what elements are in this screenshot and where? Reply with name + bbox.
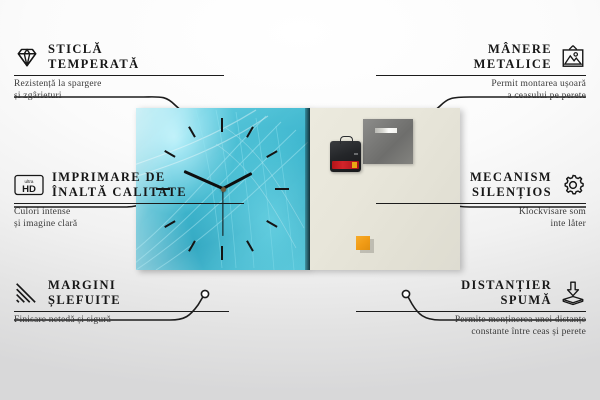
callout-title-line1: MECANISM <box>470 170 552 185</box>
callout-sub-line1: Culori intense <box>14 207 244 219</box>
hanger-slot <box>375 128 397 133</box>
callout-title-line1: STICLĂ <box>48 42 140 57</box>
quartz-mechanism <box>330 141 361 172</box>
callout-imprimare-inalta-calitate: ultra HD IMPRIMARE DE ÎNALTĂ CALITATE Cu… <box>14 170 244 230</box>
callout-rule <box>376 203 586 204</box>
ultra-hd-icon-bottom: HD <box>22 184 36 195</box>
callout-sub-line1: Klockvisare som <box>376 207 586 219</box>
callout-sticla-temperata: STICLĂ TEMPERATĂ Rezistență la spargere … <box>14 42 224 102</box>
callout-rule <box>356 311 586 312</box>
callout-sub-line2: a ceasului pe perete <box>376 91 586 103</box>
callout-sub-line1: Permit montarea ușoară <box>376 79 586 91</box>
callout-sub-line2: și imagine clară <box>14 219 244 231</box>
callout-sub-line2: inte låter <box>376 219 586 231</box>
callout-sub-line1: Finisare netedă și sigură <box>14 315 229 327</box>
callout-mecanism-silentios: MECANISM SILENȚIOS Klockvisare som inte … <box>376 170 586 230</box>
diagonal-lines-icon <box>14 280 40 306</box>
mechanism-hook <box>340 136 353 144</box>
callout-title-line2: ȘLEFUITE <box>48 293 121 308</box>
picture-frame-hanger-icon <box>560 44 586 70</box>
callout-title-line1: MÂNERE <box>474 42 552 57</box>
callout-sub-line2: și zgârieturi <box>14 91 224 103</box>
callout-manere-metalice: MÂNERE METALICE Permit montarea ușoară a… <box>376 42 586 102</box>
callout-distantier-spuma: DISTANȚIER SPUMĂ Permite menținerea unei… <box>356 278 586 338</box>
ultra-hd-icon: ultra HD <box>14 172 44 198</box>
callout-sub-line1: Rezistență la spargere <box>14 79 224 91</box>
battery <box>332 161 359 169</box>
callout-rule <box>14 75 224 76</box>
callout-rule <box>14 203 244 204</box>
callout-margini-slefuite: MARGINI ȘLEFUITE Finisare netedă și sigu… <box>14 278 229 327</box>
callout-rule <box>14 311 229 312</box>
callout-title-line2: SPUMĂ <box>461 293 552 308</box>
callout-title-line1: IMPRIMARE DE <box>52 170 187 185</box>
callout-title-line2: ÎNALTĂ CALITATE <box>52 185 187 200</box>
infographic-stage: STICLĂ TEMPERATĂ Rezistență la spargere … <box>0 0 600 400</box>
callout-title-line2: METALICE <box>474 57 552 72</box>
metal-hanger-plate <box>363 119 413 164</box>
gear-icon <box>560 172 586 198</box>
callout-title-line2: TEMPERATĂ <box>48 57 140 72</box>
foam-spacer <box>356 236 370 250</box>
callout-title-line1: MARGINI <box>48 278 121 293</box>
foam-spacer-arrow-icon <box>560 280 586 306</box>
diamond-icon <box>14 44 40 70</box>
callout-title-line1: DISTANȚIER <box>461 278 552 293</box>
callout-sub-line1: Permite menținerea unei distanțe <box>356 315 586 327</box>
callout-rule <box>376 75 586 76</box>
callout-title-line2: SILENȚIOS <box>470 185 552 200</box>
mechanism-detail <box>354 153 358 155</box>
callout-sub-line2: constante între ceas și perete <box>356 327 586 339</box>
